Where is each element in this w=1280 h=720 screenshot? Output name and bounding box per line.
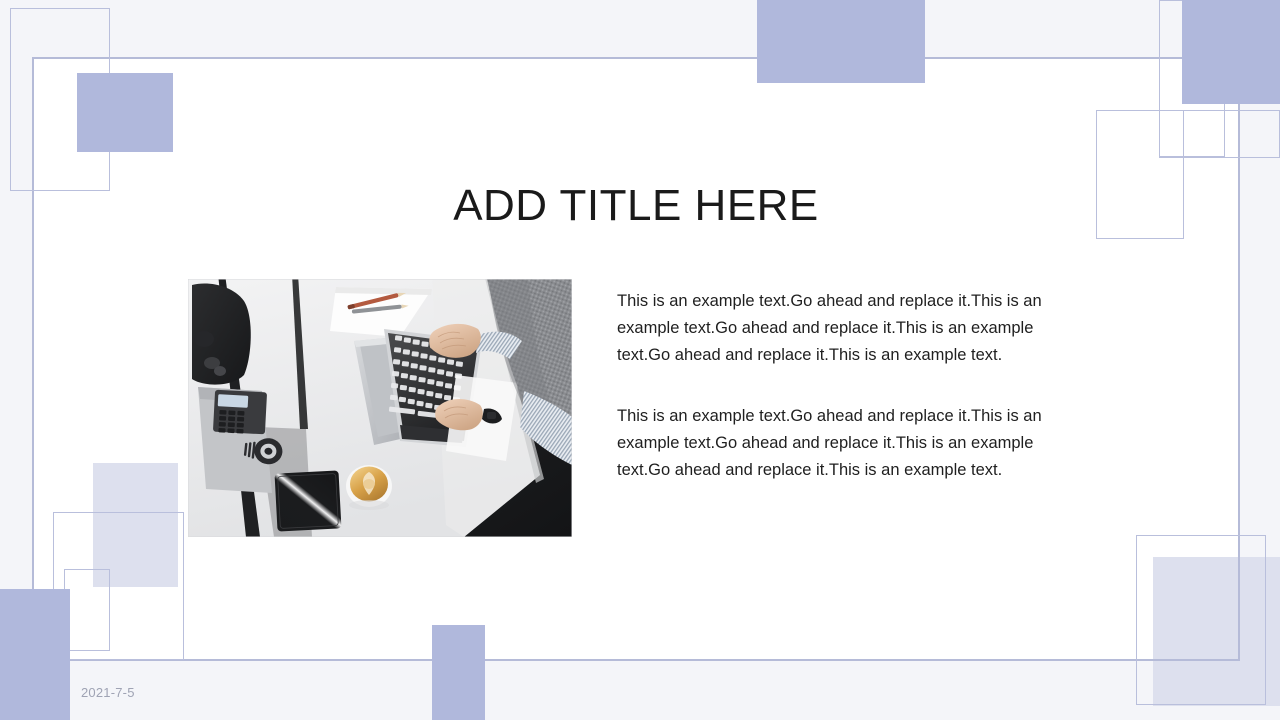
decorative-accent-square-bottom-left [0,589,70,720]
decorative-outline-rect-bottom-left-small [64,569,110,651]
body-text-block: This is an example text.Go ahead and rep… [617,288,1072,484]
decorative-accent-square-top-left [77,73,173,152]
decorative-accent-square-top-center [757,0,925,83]
footer-date: 2021-7-5 [81,685,135,700]
decorative-accent-square-bottom-center [432,625,485,720]
decorative-accent-square-top-right [1182,0,1280,104]
frame-line-top [32,57,1240,59]
decorative-outline-rect-top-right-wide [1159,110,1280,158]
presentation-slide: ADD TITLE HERE [0,0,1280,720]
decorative-outline-rect-bottom-right [1136,535,1266,705]
frame-line-bottom [32,659,1240,661]
slide-photo [188,279,572,537]
body-paragraph-2: This is an example text.Go ahead and rep… [617,403,1072,484]
page-title: ADD TITLE HERE [32,182,1240,230]
body-paragraph-1: This is an example text.Go ahead and rep… [617,288,1072,369]
